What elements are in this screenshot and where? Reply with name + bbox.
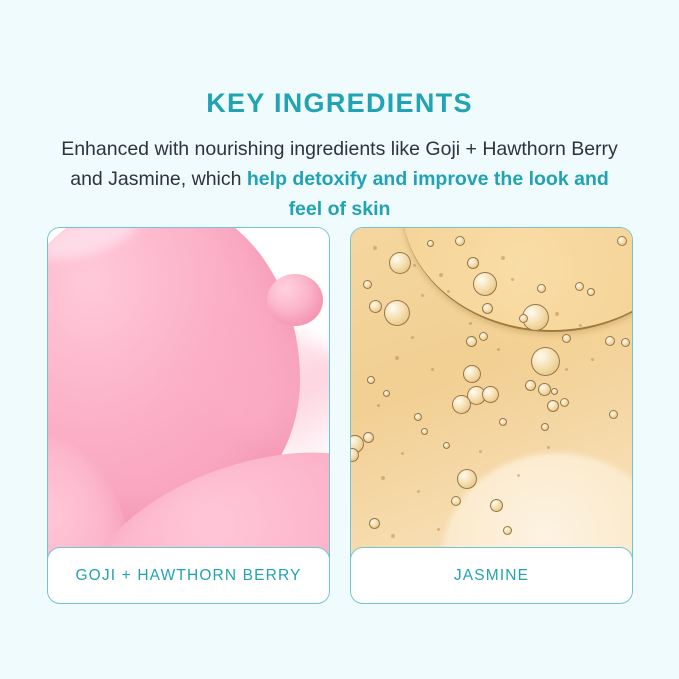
bubble	[421, 428, 428, 435]
bubble	[389, 252, 411, 274]
bubble	[351, 448, 359, 462]
speckle	[547, 446, 550, 449]
bubble	[443, 442, 450, 449]
bubble	[541, 423, 549, 431]
speckle	[377, 404, 380, 407]
speckle	[517, 474, 520, 477]
bubble	[551, 388, 558, 395]
bubble	[519, 314, 528, 323]
bubble	[466, 336, 477, 347]
section-description: Enhanced with nourishing ingredients lik…	[60, 134, 619, 224]
speckle	[391, 534, 395, 538]
bubble	[369, 300, 382, 313]
bubble	[384, 300, 410, 326]
speckle	[401, 452, 404, 455]
speckle	[437, 528, 440, 531]
bubble	[587, 288, 595, 296]
bubble	[499, 418, 507, 426]
bubble	[609, 410, 618, 419]
speckle	[511, 278, 514, 281]
pink-blob-small-right	[267, 274, 323, 326]
bubble	[605, 336, 615, 346]
key-ingredients-panel: KEY INGREDIENTS Enhanced with nourishing…	[0, 0, 679, 679]
bubble	[525, 380, 536, 391]
speckle	[373, 246, 377, 250]
speckle	[421, 294, 424, 297]
bubble	[467, 257, 479, 269]
description-highlight: help detoxify and improve the look and f…	[247, 168, 609, 220]
bubble	[457, 469, 477, 489]
bubble	[383, 390, 390, 397]
ingredient-label-goji: GOJI + HAWTHORN BERRY	[47, 547, 330, 604]
speckle	[591, 358, 594, 361]
speckle	[497, 348, 500, 351]
bubble	[490, 499, 503, 512]
page-title: KEY INGREDIENTS	[0, 88, 679, 119]
bubble	[451, 496, 461, 506]
bubble	[367, 376, 375, 384]
bubble	[455, 236, 465, 246]
speckle	[447, 290, 450, 293]
speckle	[411, 336, 414, 339]
bubble	[575, 282, 584, 291]
bubble	[363, 432, 374, 443]
speckle	[479, 450, 482, 453]
speckle	[439, 273, 443, 277]
ingredient-label-jasmine: JASMINE	[350, 547, 633, 604]
bubble	[503, 526, 512, 535]
ingredient-card-jasmine[interactable]: JASMINE	[350, 227, 633, 604]
bubble	[560, 398, 569, 407]
bubble	[621, 338, 630, 347]
bubble	[369, 518, 380, 529]
speckle	[469, 322, 472, 325]
bubble	[482, 386, 499, 403]
oil-droplet-arc	[402, 228, 632, 332]
speckle	[579, 324, 582, 327]
bubble	[482, 303, 493, 314]
speckle	[501, 256, 505, 260]
bubble	[463, 365, 481, 383]
bubble	[537, 284, 546, 293]
bubble	[479, 332, 488, 341]
bubble	[414, 413, 422, 421]
bubble	[427, 240, 434, 247]
speckle	[555, 312, 559, 316]
ingredient-card-goji[interactable]: GOJI + HAWTHORN BERRY	[47, 227, 330, 604]
bubble	[363, 280, 372, 289]
bubble	[562, 334, 571, 343]
speckle	[381, 476, 385, 480]
speckle	[431, 368, 434, 371]
speckle	[413, 264, 416, 267]
bubble	[538, 383, 551, 396]
speckle	[565, 368, 568, 371]
bubble	[473, 272, 497, 296]
ingredient-card-row: GOJI + HAWTHORN BERRY	[47, 227, 633, 604]
bubble	[531, 347, 560, 376]
speckle	[395, 356, 399, 360]
bubble	[547, 400, 559, 412]
speckle	[417, 490, 420, 493]
bubble	[617, 236, 627, 246]
bubble	[452, 395, 471, 414]
